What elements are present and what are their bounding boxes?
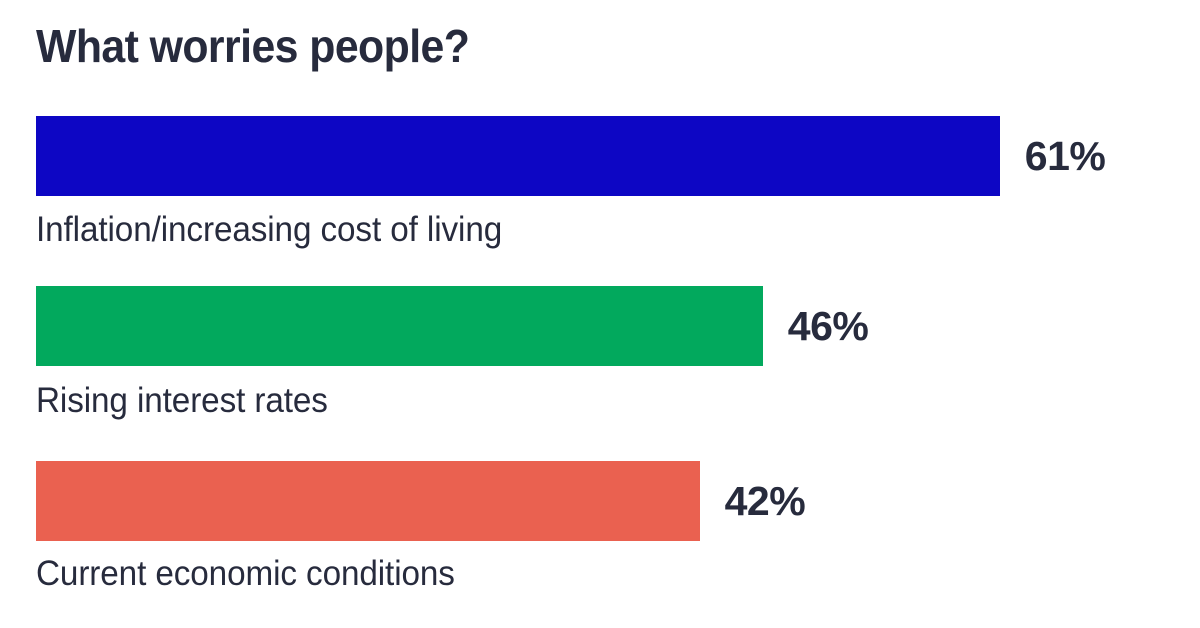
bar-row: 61% Inflation/increasing cost of living bbox=[0, 116, 1200, 196]
bar-rect-interest-rates[interactable] bbox=[36, 286, 763, 366]
bar-label-interest-rates: Rising interest rates bbox=[36, 383, 328, 418]
bar-rect-inflation[interactable] bbox=[36, 116, 1000, 196]
bar-track: 46% bbox=[0, 286, 1200, 366]
bar-value-interest-rates: 46% bbox=[788, 286, 869, 366]
bar-track: 42% bbox=[0, 461, 1200, 541]
bar-label-economic-conditions: Current economic conditions bbox=[36, 556, 455, 591]
bar-rect-economic-conditions[interactable] bbox=[36, 461, 700, 541]
bar-value-economic-conditions: 42% bbox=[725, 461, 806, 541]
bar-chart: What worries people? 61% Inflation/incre… bbox=[0, 0, 1200, 628]
chart-title: What worries people? bbox=[36, 22, 469, 71]
bar-row: 42% Current economic conditions bbox=[0, 461, 1200, 541]
bar-row: 46% Rising interest rates bbox=[0, 286, 1200, 366]
bar-track: 61% bbox=[0, 116, 1200, 196]
bar-label-inflation: Inflation/increasing cost of living bbox=[36, 212, 502, 247]
bar-value-inflation: 61% bbox=[1025, 116, 1106, 196]
